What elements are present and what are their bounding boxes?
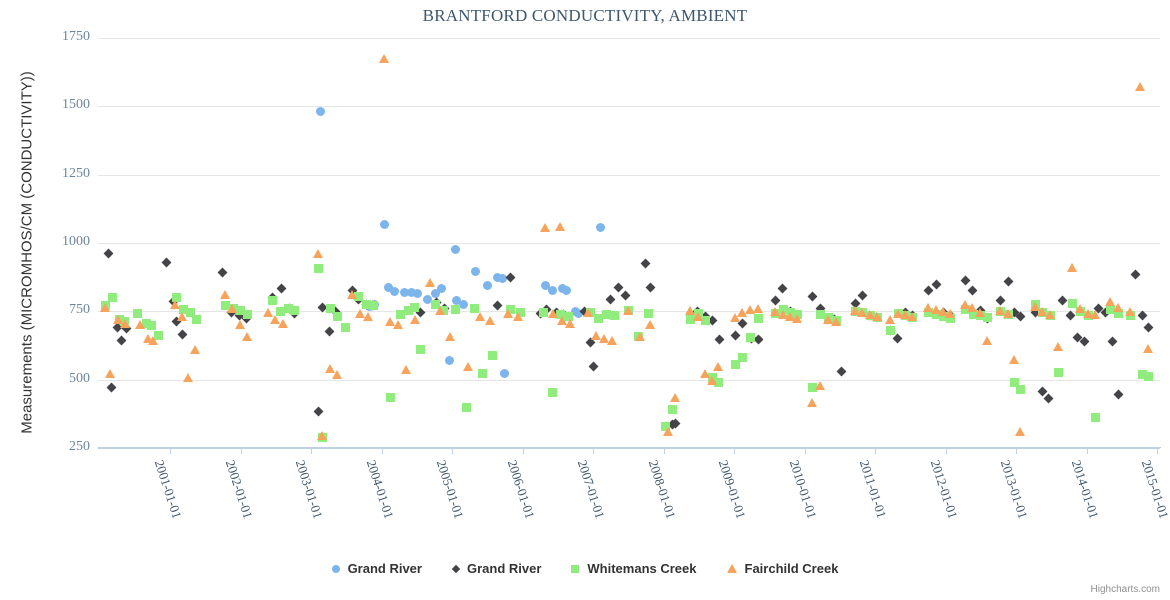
data-point[interactable] [605,295,615,305]
y-axis-tick-label: 1000 [44,234,90,250]
data-point[interactable] [226,308,236,318]
chart-title: BRANTFORD CONDUCTIVITY, AMBIENT [0,6,1170,26]
data-point[interactable] [192,315,201,324]
data-point[interactable] [946,314,955,323]
data-point[interactable] [886,326,895,335]
data-point[interactable] [831,317,841,326]
data-point[interactable] [872,312,882,321]
data-point[interactable] [551,308,561,318]
x-axis-tick-label: 2011-01-01 [856,458,890,520]
data-point[interactable] [599,334,609,343]
data-point[interactable] [982,336,992,345]
data-point[interactable] [393,320,403,329]
data-point[interactable] [513,312,523,321]
data-point[interactable] [425,278,435,287]
x-axis-tick-label: 2008-01-01 [644,458,678,521]
data-point[interactable] [386,393,395,402]
x-axis-tick-label: 2012-01-01 [926,458,960,521]
data-point[interactable] [588,362,598,372]
data-point[interactable] [217,267,227,277]
data-point[interactable] [313,249,323,258]
x-axis-tick-label: 2013-01-01 [997,458,1031,521]
data-point[interactable] [121,324,131,334]
data-point[interactable] [485,316,495,325]
data-point[interactable] [106,382,116,392]
data-point[interactable] [435,306,445,315]
data-point[interactable] [885,315,895,324]
data-point[interactable] [154,331,163,340]
y-gridline [98,106,1160,107]
x-axis-tick-mark [875,448,876,454]
data-point[interactable] [871,312,881,322]
data-point[interactable] [488,351,497,360]
y-axis-tick-labels: 2505007501000125015001750 [38,38,90,448]
data-point[interactable] [1016,385,1025,394]
highcharts-container: BRANTFORD CONDUCTIVITY, AMBIENT Measurem… [0,0,1170,600]
legend-item-2[interactable]: Whitemans Creek [571,561,696,576]
legend-item-0[interactable]: Grand River [332,561,422,576]
x-axis-tick-mark [734,448,735,454]
x-axis-tick-label: 2009-01-01 [715,458,749,521]
data-point[interactable] [557,316,567,325]
data-point[interactable] [354,292,363,301]
data-point[interactable] [596,223,605,232]
data-point[interactable] [347,290,357,299]
data-point[interactable] [1135,82,1145,91]
data-point[interactable] [120,319,130,328]
data-point[interactable] [317,431,327,440]
data-point[interactable] [594,314,603,323]
x-axis-tick-label: 2010-01-01 [785,458,819,521]
y-axis-tick-label: 250 [44,439,90,455]
data-point[interactable] [961,305,970,314]
data-point[interactable] [700,312,710,322]
data-point[interactable] [908,313,917,322]
data-point[interactable] [730,330,740,340]
data-point[interactable] [754,314,763,323]
data-point[interactable] [931,305,941,314]
data-point[interactable] [143,334,153,343]
data-point[interactable] [670,418,680,428]
data-point[interactable] [463,362,473,371]
data-point[interactable] [1068,299,1077,308]
x-axis-tick-label: 2001-01-01 [151,458,185,521]
data-point[interactable] [325,364,335,373]
data-point[interactable] [976,311,985,320]
data-point[interactable] [370,300,379,309]
data-point[interactable] [367,300,377,310]
data-point[interactable] [939,312,948,321]
data-point[interactable] [431,300,440,309]
data-point[interactable] [413,289,422,298]
triangle-marker-icon [727,564,737,573]
data-point[interactable] [221,301,230,310]
x-axis-tick-label: 2014-01-01 [1067,458,1101,521]
data-point[interactable] [667,420,677,430]
data-point[interactable] [995,306,1005,315]
data-point[interactable] [475,312,485,321]
y-axis-tick-label: 1500 [44,97,90,113]
data-point[interactable] [923,285,933,295]
data-point[interactable] [500,369,509,378]
data-point[interactable] [693,312,703,321]
data-point[interactable] [663,427,673,436]
data-point[interactable] [562,286,571,295]
data-point[interactable] [555,222,565,231]
data-point[interactable] [983,313,992,322]
data-point[interactable] [701,316,710,325]
square-marker-icon [571,565,579,573]
data-point[interactable] [407,288,416,297]
data-point[interactable] [120,317,129,326]
data-point[interactable] [907,312,917,321]
data-point[interactable] [365,302,374,311]
data-point[interactable] [737,319,747,329]
data-point[interactable] [548,388,557,397]
data-point[interactable] [786,308,795,317]
data-point[interactable] [505,273,515,283]
data-point[interactable] [361,300,371,310]
data-point[interactable] [492,301,502,311]
data-point[interactable] [714,334,724,344]
y-axis-tick-label: 750 [44,302,90,318]
data-point[interactable] [177,329,187,339]
data-point[interactable] [746,333,755,342]
x-axis-tick-mark [452,448,453,454]
data-point[interactable] [823,313,833,323]
x-axis-tick-label: 2003-01-01 [292,458,326,521]
data-point[interactable] [161,257,171,267]
data-point[interactable] [270,315,280,324]
data-point[interactable] [967,286,977,296]
data-point[interactable] [1083,309,1093,318]
data-point[interactable] [1009,355,1019,364]
x-axis-tick-label: 2006-01-01 [503,458,537,521]
data-point[interactable] [168,297,178,307]
data-point[interactable] [832,316,841,325]
data-point[interactable] [670,393,680,402]
data-point[interactable] [289,309,299,319]
data-point[interactable] [416,345,425,354]
data-point[interactable] [332,370,342,379]
data-point[interactable] [540,223,550,232]
data-point[interactable] [170,300,180,309]
data-point[interactable] [135,320,145,329]
highcharts-credit[interactable]: Highcharts.com [1091,584,1160,595]
data-point[interactable] [539,308,548,317]
data-point[interactable] [171,317,181,327]
data-point[interactable] [493,273,502,282]
data-point[interactable] [960,300,970,309]
y-gridline [98,38,1160,39]
data-point[interactable] [535,309,545,319]
data-point[interactable] [108,293,117,302]
data-point[interactable] [613,282,623,292]
data-point[interactable] [267,293,277,303]
data-point[interactable] [753,334,763,344]
data-point[interactable] [101,301,110,310]
x-axis-tick-mark [1087,448,1088,454]
data-point[interactable] [1054,368,1063,377]
data-point[interactable] [620,291,630,301]
data-point[interactable] [113,315,123,324]
legend-item-3[interactable]: Fairchild Creek [727,561,839,576]
data-point[interactable] [471,267,480,276]
data-point[interactable] [452,296,461,305]
data-point[interactable] [685,306,695,315]
data-point[interactable] [431,297,441,307]
x-axis-line [98,447,1161,448]
y-axis-tick-label: 500 [44,371,90,387]
data-point[interactable] [380,220,389,229]
data-point[interactable] [353,295,363,305]
data-point[interactable] [105,369,115,378]
y-gridline [98,380,1160,381]
data-point[interactable] [807,291,817,301]
data-point[interactable] [982,314,992,324]
data-point[interactable] [824,313,833,322]
data-point[interactable] [516,308,525,317]
x-axis-tick-mark [946,448,947,454]
data-point[interactable] [823,315,833,324]
data-point[interactable] [220,290,230,299]
data-point[interactable] [995,295,1005,305]
data-point[interactable] [379,54,389,63]
data-point[interactable] [960,276,970,286]
data-point[interactable] [707,315,717,325]
data-point[interactable] [807,398,817,407]
data-point[interactable] [235,320,245,329]
data-point[interactable] [1030,302,1040,311]
data-point[interactable] [607,336,617,345]
data-point[interactable] [1038,308,1047,317]
data-point[interactable] [112,323,122,333]
data-point[interactable] [924,308,933,317]
x-axis-tick-mark [1016,448,1017,454]
y-gridline [98,448,1160,449]
data-point[interactable] [815,381,825,390]
data-point[interactable] [1057,295,1067,305]
data-point[interactable] [1003,309,1013,318]
x-axis-tick-mark [805,448,806,454]
data-point[interactable] [661,422,670,431]
data-point[interactable] [1030,308,1040,318]
data-point[interactable] [316,107,325,116]
x-axis-tick-label: 2004-01-01 [362,458,396,521]
data-point[interactable] [548,286,557,295]
data-point[interactable] [445,332,455,341]
data-point[interactable] [318,433,327,442]
y-gridline [98,243,1160,244]
legend-label: Fairchild Creek [745,561,839,576]
data-point[interactable] [829,315,839,325]
x-axis-tick-label: 2005-01-01 [433,458,467,521]
data-point[interactable] [190,345,200,354]
data-point[interactable] [1003,277,1013,287]
data-point[interactable] [1067,263,1077,272]
data-point[interactable] [686,315,695,324]
data-point[interactable] [384,283,393,292]
data-point[interactable] [558,284,567,293]
data-point[interactable] [115,315,124,324]
data-point[interactable] [640,259,650,269]
data-point[interactable] [745,305,755,314]
circle-marker-icon [332,565,340,573]
data-point[interactable] [241,314,251,324]
data-point[interactable] [363,312,373,321]
x-axis-tick-mark [593,448,594,454]
data-point[interactable] [591,331,601,340]
data-point[interactable] [1072,332,1082,342]
data-point[interactable] [931,280,941,290]
data-point[interactable] [483,281,492,290]
data-point[interactable] [645,282,655,292]
data-point[interactable] [1031,300,1040,309]
data-point[interactable] [885,326,895,336]
data-point[interactable] [103,248,113,258]
data-point[interactable] [276,284,286,294]
data-point[interactable] [179,305,188,314]
data-point[interactable] [341,323,350,332]
data-point[interactable] [1100,308,1110,318]
data-point[interactable] [1053,342,1063,351]
data-point[interactable] [1130,269,1140,279]
data-point[interactable] [313,406,323,416]
data-point[interactable] [437,284,446,293]
data-point[interactable] [892,334,902,344]
data-point[interactable] [415,308,425,318]
data-point[interactable] [1138,370,1147,379]
data-point[interactable] [770,295,780,305]
data-point[interactable] [401,365,411,374]
data-point[interactable] [451,245,460,254]
x-axis-tick-mark [664,448,665,454]
data-point[interactable] [242,332,252,341]
data-point[interactable] [172,293,181,302]
data-point[interactable] [362,300,371,309]
data-point[interactable] [668,405,677,414]
data-point[interactable] [1043,394,1053,404]
data-point[interactable] [1105,297,1115,306]
data-point[interactable] [116,336,126,346]
data-point[interactable] [785,312,795,321]
x-axis-tick-mark [523,448,524,454]
data-point[interactable] [142,319,151,328]
data-point[interactable] [857,291,867,301]
data-point[interactable] [1009,308,1019,318]
data-point[interactable] [410,315,420,324]
data-point[interactable] [634,332,643,341]
x-axis-tick-mark [1157,448,1158,454]
data-point[interactable] [1106,305,1115,314]
data-point[interactable] [1113,390,1123,400]
data-point[interactable] [431,289,440,298]
data-point[interactable] [369,301,378,310]
data-point[interactable] [314,264,323,273]
data-point[interactable] [186,308,195,317]
data-point[interactable] [1091,413,1100,422]
data-point[interactable] [808,383,817,392]
data-point[interactable] [459,300,468,309]
data-point[interactable] [498,274,507,283]
y-axis-tick-label: 1250 [44,166,90,182]
data-point[interactable] [900,308,910,318]
data-point[interactable] [400,288,409,297]
data-point[interactable] [506,305,515,314]
data-point[interactable] [635,332,645,341]
data-point[interactable] [700,369,710,378]
legend-label: Whitemans Creek [587,561,696,576]
data-point[interactable] [938,308,948,318]
data-point[interactable] [1015,427,1025,436]
data-point[interactable] [268,296,277,305]
data-point[interactable] [858,308,867,317]
x-axis-tick-label: 2002-01-01 [221,458,255,521]
data-point[interactable] [324,326,334,336]
y-axis-title: Measurements (MICROMHOS/CM (CONDUCTIVITY… [19,18,36,488]
data-point[interactable] [541,281,550,290]
legend-item-1[interactable]: Grand River [452,561,541,576]
data-point[interactable] [390,287,399,296]
data-point[interactable] [792,314,802,323]
data-point[interactable] [850,299,860,309]
data-point[interactable] [565,319,575,328]
plot-area [98,38,1160,448]
data-point[interactable] [1015,311,1025,321]
x-axis-tick-mark [241,448,242,454]
data-point[interactable] [278,319,288,328]
data-point[interactable] [1143,323,1153,333]
data-point[interactable] [183,373,193,382]
data-point[interactable] [177,312,187,321]
data-point[interactable] [1079,336,1089,346]
legend-label: Grand River [348,561,422,576]
y-axis-tick-label: 1750 [44,29,90,45]
data-point[interactable] [462,403,471,412]
x-axis-tick-mark [311,448,312,454]
legend-label: Grand River [467,561,541,576]
data-point[interactable] [148,336,158,345]
data-point[interactable] [385,317,395,326]
chart-legend[interactable]: Grand RiverGrand RiverWhitemans CreekFai… [0,561,1170,576]
data-point[interactable] [585,338,595,348]
data-point[interactable] [564,312,573,321]
data-point[interactable] [1143,344,1153,353]
data-point[interactable] [1037,387,1047,397]
data-point[interactable] [478,369,487,378]
data-point[interactable] [1107,336,1117,346]
data-point[interactable] [746,334,756,344]
data-point[interactable] [645,320,655,329]
data-point[interactable] [586,308,595,317]
x-axis-tick-mark [382,448,383,454]
data-point[interactable] [738,353,747,362]
data-point[interactable] [423,295,432,304]
data-point[interactable] [445,356,454,365]
data-point[interactable] [347,285,357,295]
data-point[interactable] [541,305,551,315]
data-point[interactable] [147,321,156,330]
data-point[interactable] [333,312,342,321]
data-point[interactable] [873,313,882,322]
data-point[interactable] [730,313,740,322]
data-point[interactable] [777,284,787,294]
data-point[interactable] [713,362,723,371]
y-gridline [98,311,1160,312]
data-point[interactable] [451,305,460,314]
data-point[interactable] [731,360,740,369]
data-point[interactable] [836,367,846,377]
